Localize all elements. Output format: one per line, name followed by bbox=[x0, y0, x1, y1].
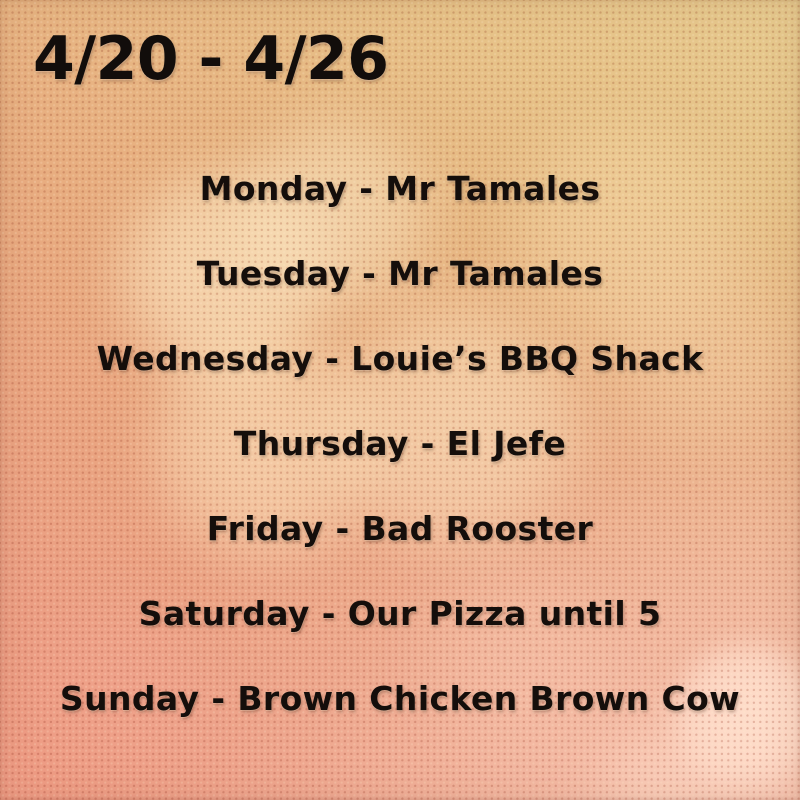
schedule-row-tuesday: Tuesday - Mr Tamales bbox=[0, 231, 800, 316]
food-truck-schedule-poster: 4/20 - 4/26 Monday - Mr Tamales Tuesday … bbox=[0, 0, 800, 800]
schedule-row-text: Saturday - Our Pizza until 5 bbox=[139, 594, 662, 633]
schedule-row-saturday: Saturday - Our Pizza until 5 bbox=[0, 571, 800, 656]
schedule-row-friday: Friday - Bad Rooster bbox=[0, 486, 800, 571]
schedule-row-text: Thursday - El Jefe bbox=[234, 424, 566, 463]
schedule-row-text: Wednesday - Louie’s BBQ Shack bbox=[97, 339, 704, 378]
schedule-row-text: Monday - Mr Tamales bbox=[200, 169, 601, 208]
date-range-title: 4/20 - 4/26 bbox=[33, 29, 389, 89]
schedule-row-text: Friday - Bad Rooster bbox=[207, 509, 593, 548]
weekly-schedule-list: Monday - Mr Tamales Tuesday - Mr Tamales… bbox=[0, 146, 800, 741]
schedule-row-monday: Monday - Mr Tamales bbox=[0, 146, 800, 231]
schedule-row-wednesday: Wednesday - Louie’s BBQ Shack bbox=[0, 316, 800, 401]
schedule-row-sunday: Sunday - Brown Chicken Brown Cow bbox=[0, 656, 800, 741]
schedule-row-text: Tuesday - Mr Tamales bbox=[197, 254, 604, 293]
schedule-row-thursday: Thursday - El Jefe bbox=[0, 401, 800, 486]
schedule-row-text: Sunday - Brown Chicken Brown Cow bbox=[60, 679, 740, 718]
poster-content: 4/20 - 4/26 Monday - Mr Tamales Tuesday … bbox=[0, 0, 800, 800]
